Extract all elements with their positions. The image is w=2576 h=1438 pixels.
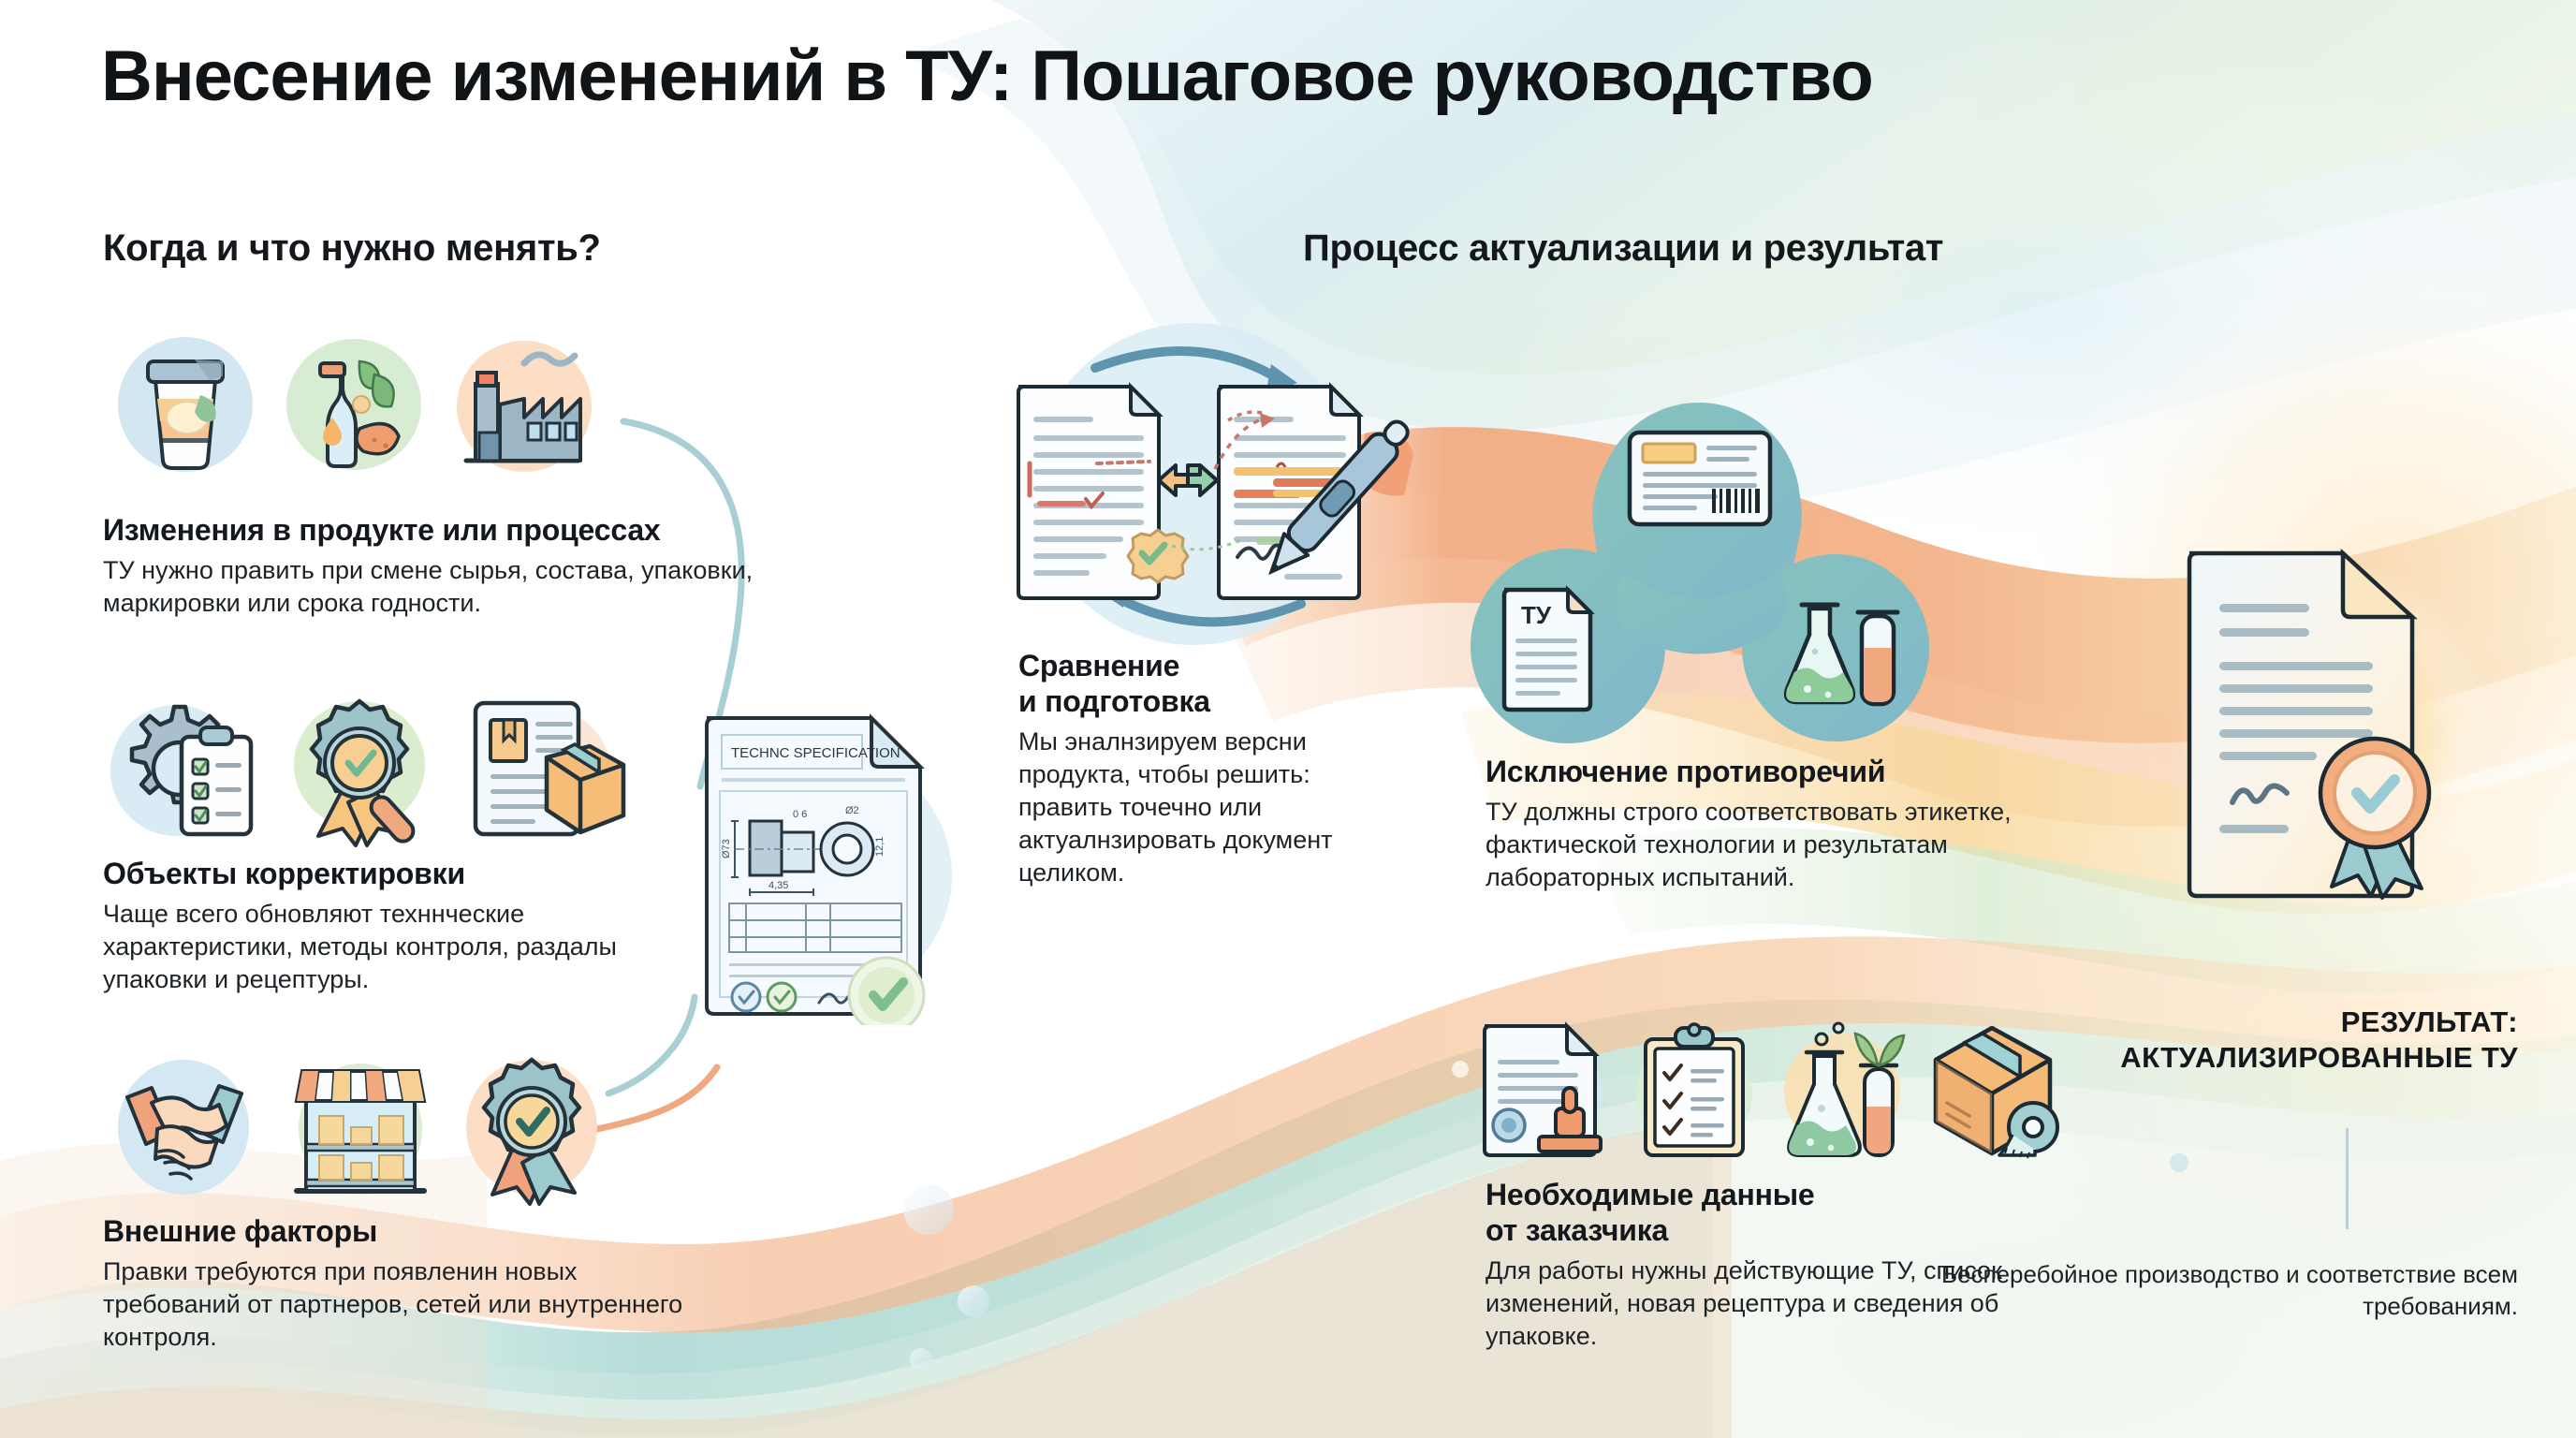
stamped-document-icon [1470, 1011, 1619, 1170]
block-body: Чаще всего обновляют техннческие характе… [103, 898, 702, 996]
result-title-line2: АКТУАЛИЗИРОВАННЫЕ ТУ [1844, 1040, 2518, 1076]
requirements-network-illustration: ТУ [1465, 374, 1933, 754]
block-title-line2: и подготовка [1018, 684, 1374, 720]
result-divider [2346, 1128, 2349, 1229]
block-comparison-preparation: Сравнение и подготовка Мы эналнзируем ве… [1018, 649, 1374, 889]
award-badge-icon [447, 1047, 621, 1208]
approved-certificate-illustration [2167, 538, 2485, 927]
gear-clipboard-icon [101, 688, 277, 849]
block-title: Изменения в продукте или процессах [103, 513, 786, 549]
spec-dim-left: Ø73 [721, 839, 732, 858]
checklist-clipboard-icon [1619, 1011, 1769, 1170]
block-body: ТУ должны строго соответствовать этикетк… [1486, 796, 2028, 894]
spec-dim-bottom: 4,35 [768, 880, 788, 891]
icon-row-product [101, 318, 607, 487]
block-product-changes: Изменения в продукте или процессах ТУ ну… [103, 513, 786, 620]
page-title: Внесение изменений в ТУ: Пошаговое руков… [101, 39, 2497, 114]
block-body: Правки требуются при появленин новых тре… [103, 1255, 702, 1354]
left-column-heading: Когда и что нужно менять? [103, 227, 601, 270]
storefront-icon [274, 1047, 447, 1208]
coffee-cup-icon [101, 318, 270, 487]
spec-dim-top: 0 6 [793, 809, 807, 820]
icon-row-external-factors [101, 1047, 621, 1208]
block-title-line1: Сравнение [1018, 649, 1374, 684]
bottle-leaves-icon [270, 318, 438, 487]
hub-document-label: ТУ [1521, 601, 1552, 629]
block-body: Мы эналнзируем версни продукта, чтобы ре… [1018, 726, 1374, 889]
result-title: РЕЗУЛЬТАТ: АКТУАЛИЗИРОВАННЫЕ ТУ [1844, 1005, 2518, 1076]
award-magnifier-icon [277, 688, 453, 849]
icon-row-adjustment-objects [101, 688, 629, 849]
document-box-icon [453, 688, 629, 849]
block-body: ТУ нужно править при смене сырья, состав… [103, 554, 786, 620]
block-adjustment-objects: Объекты корректировки Чаще всего обновля… [103, 857, 702, 996]
block-conflict-exclusion: Исключение противоречий ТУ должны строго… [1486, 755, 2028, 894]
factory-icon [438, 318, 607, 487]
right-column-heading: Процесс актуализации и результат [1303, 227, 1943, 270]
result-body: Бесперебойное производство и соответстви… [1844, 1259, 2518, 1323]
infographic-canvas: Внесение изменений в ТУ: Пошаговое руков… [0, 0, 2576, 1438]
block-title: Внешние факторы [103, 1214, 702, 1250]
technical-specification-illustration: TECHNC SPECIFICATION Ø73 4,35 0 6 Ø2 12,… [688, 697, 959, 1030]
block-external-factors: Внешние факторы Правки требуются при поя… [103, 1214, 702, 1354]
block-title-line1: Необходимые данные [1486, 1178, 2028, 1213]
block-title: Исключение противоречий [1486, 755, 2028, 790]
result-title-line1: РЕЗУЛЬТАТ: [1844, 1005, 2518, 1040]
handshake-icon [101, 1047, 274, 1208]
document-comparison-illustration [992, 323, 1413, 651]
block-title-line2: от заказчика [1486, 1213, 2028, 1249]
spec-title-text: TECHNC SPECIFICATION [731, 745, 900, 761]
spec-dim-right: 12,1 [874, 837, 885, 857]
block-title: Объекты корректировки [103, 857, 702, 892]
spec-dim-top-right: Ø2 [845, 805, 859, 816]
